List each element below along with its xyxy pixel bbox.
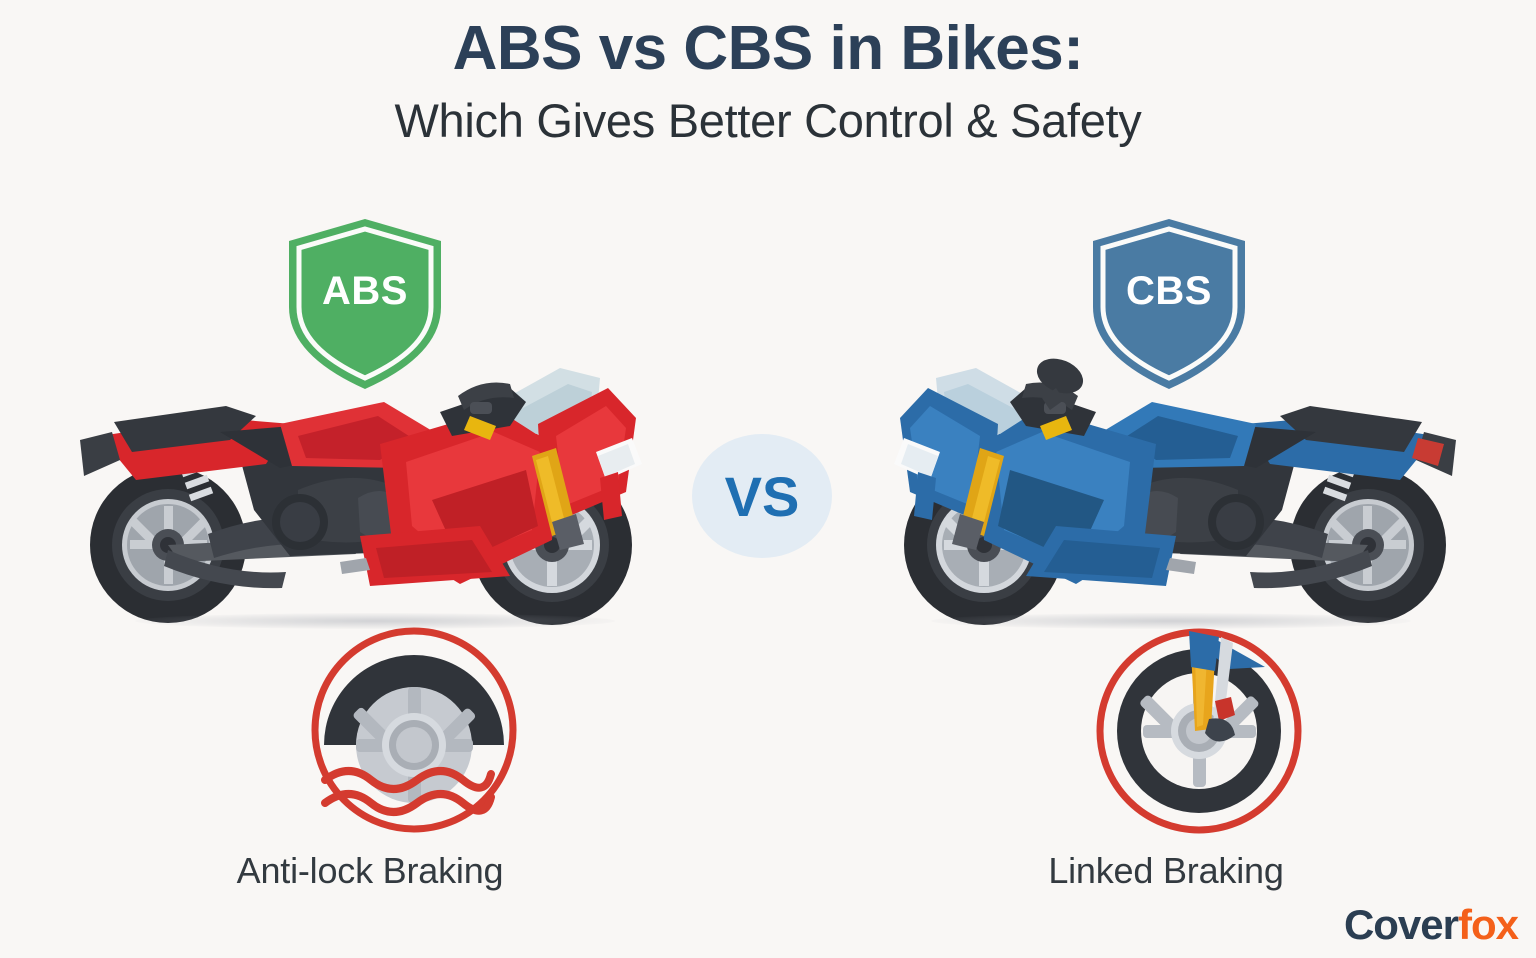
- abs-caption: Anti-lock Braking: [40, 850, 700, 892]
- abs-skid-wheel-icon: [295, 625, 535, 840]
- header: ABS vs CBS in Bikes: Which Gives Better …: [0, 0, 1536, 147]
- vs-label: VS: [692, 434, 832, 558]
- cbs-caption: Linked Braking: [836, 850, 1496, 892]
- coverfox-logo[interactable]: Coverfox: [1344, 904, 1518, 946]
- linked-brake-wheel-icon: [1079, 625, 1319, 840]
- blue-sportbike-icon: [836, 340, 1496, 630]
- red-sportbike-icon: [40, 340, 700, 630]
- infographic-canvas: ABS vs CBS in Bikes: Which Gives Better …: [0, 0, 1536, 958]
- logo-accent-text: fox: [1458, 901, 1518, 948]
- page-subtitle: Which Gives Better Control & Safety: [0, 83, 1536, 147]
- vs-badge: VS: [692, 434, 832, 558]
- page-title: ABS vs CBS in Bikes:: [0, 0, 1536, 83]
- panel-abs: ABS: [40, 205, 700, 925]
- panel-cbs: CBS: [836, 205, 1496, 925]
- logo-primary-text: Cover: [1344, 901, 1458, 948]
